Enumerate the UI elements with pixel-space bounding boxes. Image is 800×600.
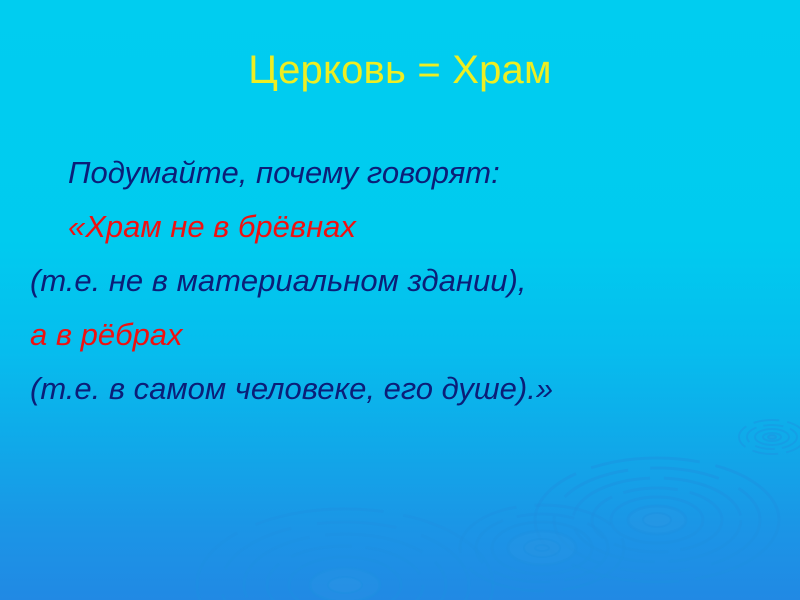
body-line-5: (т.е. в самом человеке, его душе).»	[30, 362, 770, 416]
ripple-large-right	[535, 458, 779, 582]
body-line-4: а в рёбрах	[30, 308, 770, 362]
body-line-1: Подумайте, почему говорят:	[30, 146, 770, 200]
body-line-3: (т.е. не в материальном здании),	[30, 254, 770, 308]
slide-body: Подумайте, почему говорят: «Храм не в бр…	[30, 146, 770, 416]
body-line-2: «Храм не в брёвнах	[30, 200, 770, 254]
ripple-large-bottom-left	[197, 509, 493, 600]
slide-title: Церковь = Храм	[0, 46, 800, 94]
ripple-small-top-right	[739, 420, 800, 454]
slide-canvas: Церковь = Храм Подумайте, почему говорят…	[0, 0, 800, 600]
ripple-medium-center	[460, 505, 624, 591]
